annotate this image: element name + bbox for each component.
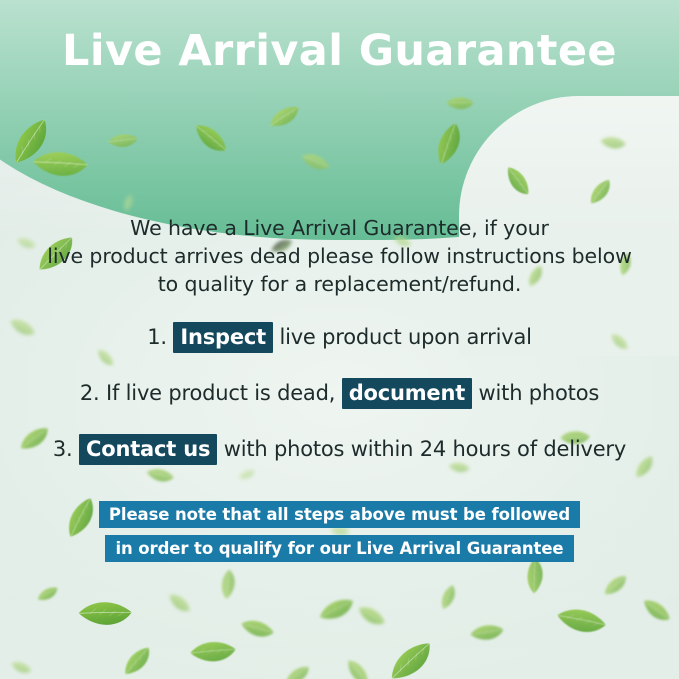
footer-note-row-2: in order to qualify for our Live Arrival… <box>0 535 679 562</box>
intro-line-1: We have a Live Arrival Guarantee, if you… <box>40 214 639 242</box>
step-1-number: 1. <box>147 325 167 349</box>
step-item-1: 1. Inspect live product upon arrival <box>0 320 679 354</box>
step-1-text-after: live product upon arrival <box>279 325 531 349</box>
step-2-number: 2. <box>80 381 100 405</box>
step-3-number: 3. <box>53 437 73 461</box>
steps-list: 1. Inspect live product upon arrival 2. … <box>0 320 679 466</box>
footer-note: Please note that all steps above must be… <box>0 501 679 562</box>
footer-note-line-2: in order to qualify for our Live Arrival… <box>105 535 573 562</box>
step-2-highlight-document: document <box>342 378 472 409</box>
step-3-text-after: with photos within 24 hours of delivery <box>224 437 626 461</box>
intro-line-3: to quality for a replacement/refund. <box>40 270 639 298</box>
step-item-3: 3. Contact us with photos within 24 hour… <box>0 432 679 466</box>
step-2-text-before: If live product is dead, <box>106 381 335 405</box>
step-item-2: 2. If live product is dead, document wit… <box>0 376 679 410</box>
live-arrival-guarantee-poster: Live Arrival Guarantee We have a Live Ar… <box>0 0 679 679</box>
intro-line-2: live product arrives dead please follow … <box>40 242 639 270</box>
intro-paragraph: We have a Live Arrival Guarantee, if you… <box>40 214 639 298</box>
footer-note-line-1: Please note that all steps above must be… <box>99 501 580 528</box>
step-2-text-after: with photos <box>479 381 600 405</box>
footer-note-row-1: Please note that all steps above must be… <box>0 501 679 528</box>
page-title: Live Arrival Guarantee <box>0 26 679 76</box>
step-1-highlight-inspect: Inspect <box>173 322 273 353</box>
step-3-highlight-contact-us: Contact us <box>79 434 217 465</box>
